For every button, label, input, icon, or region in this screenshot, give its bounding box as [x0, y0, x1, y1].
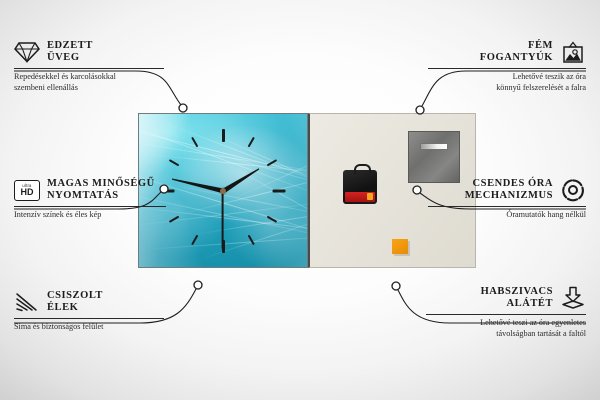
callout-header: FÉMFOGANTYÚK [428, 40, 586, 65]
clock-tick [191, 136, 198, 147]
callout-polished-edges: CSISZOLTÉLEK Sima és biztonságos felület [14, 290, 164, 333]
callout-metal-handles: FÉMFOGANTYÚK Lehetővé teszik az óra könn… [428, 40, 586, 93]
feather-streak [184, 144, 308, 199]
callout-tempered-glass: EDZETTÜVEG Repedésekkel és karcolásokkal… [14, 40, 164, 93]
clock-tick [248, 136, 255, 147]
clock-tick [169, 215, 180, 222]
clock-hand-cap [220, 188, 226, 194]
foam-spacer-pad [392, 239, 408, 254]
wire-endpoint-polished-edges [194, 281, 202, 289]
callout-description: Sima és biztonságos felület [14, 322, 164, 333]
clock-tick [248, 234, 255, 245]
mechanism-hanger-loop [354, 164, 371, 174]
wire-endpoint-foam-pad [392, 282, 400, 290]
feather-glow [138, 113, 194, 174]
callout-header: ultra HD MAGAS MINŐSÉGŰNYOMTATÁS [14, 178, 166, 203]
metal-hanger-plate [408, 131, 460, 183]
hanger-slot [420, 143, 448, 150]
feather-streak [199, 206, 308, 259]
infographic-canvas: EDZETTÜVEG Repedésekkel és karcolásokkal… [0, 0, 600, 400]
clock-second-hand [222, 191, 224, 249]
picture-hanger-icon [560, 41, 586, 64]
feather-streak [194, 206, 308, 235]
callout-title: HABSZIVACSALÁTÉT [481, 286, 553, 311]
callout-header: HABSZIVACSALÁTÉT [426, 286, 586, 311]
callout-foam-pad: HABSZIVACSALÁTÉT Lehetővé teszi az óra e… [426, 286, 586, 339]
feather-streak [179, 166, 308, 215]
callout-description: Óramutatók hang nélkül [428, 210, 586, 221]
callout-description: Repedésekkel és karcolásokkal szembeni e… [14, 72, 164, 94]
clock-tick [267, 215, 278, 222]
product-image [138, 113, 476, 268]
wire-endpoint-tempered-glass [179, 104, 187, 112]
clock-tick [267, 159, 278, 166]
callout-description: Lehetővé teszi az óra egyenletes távolsá… [426, 318, 586, 340]
feather-streak [138, 140, 308, 177]
callout-header: EDZETTÜVEG [14, 40, 164, 65]
battery-terminal [367, 193, 373, 200]
ultra-hd-badge-icon: ultra HD [14, 180, 40, 201]
callout-header: CSISZOLTÉLEK [14, 290, 164, 315]
callout-divider [14, 68, 164, 69]
clock-minute-hand [171, 176, 224, 193]
feather-streak [149, 154, 308, 177]
callout-divider [428, 68, 586, 69]
callout-divider [426, 314, 586, 315]
feather-streak [234, 141, 308, 199]
feather-streak [224, 162, 308, 236]
feather-streak [169, 184, 308, 221]
callout-title: EDZETTÜVEG [47, 40, 93, 65]
polished-edge-lines-icon [14, 291, 40, 313]
callout-title: CSISZOLTÉLEK [47, 290, 103, 315]
feather-streak [144, 234, 308, 250]
callout-divider [14, 318, 164, 319]
foam-pad-arrow-icon [560, 286, 586, 310]
callout-title: MAGAS MINŐSÉGŰNYOMTATÁS [47, 178, 155, 203]
clock-tick [169, 159, 180, 166]
callout-title: FÉMFOGANTYÚK [480, 40, 553, 65]
gear-icon [560, 178, 586, 202]
callout-divider [428, 206, 586, 207]
feather-glow [224, 179, 308, 268]
diamond-icon [14, 41, 40, 63]
clock-tick [191, 234, 198, 245]
callout-header: CSENDES ÓRAMECHANIZMUS [428, 178, 586, 203]
battery [345, 192, 375, 202]
callout-high-quality-print: ultra HD MAGAS MINŐSÉGŰNYOMTATÁS Intenzí… [14, 178, 166, 221]
callout-silent-mechanism: CSENDES ÓRAMECHANIZMUS Óramutatók hang n… [428, 178, 586, 221]
clock-tick [272, 189, 285, 192]
callout-divider [14, 206, 166, 207]
callout-description: Lehetővé teszik az óra könnyű felszerelé… [428, 72, 586, 94]
clock-tick [222, 129, 225, 142]
quartz-clock-mechanism [343, 170, 377, 204]
callout-description: Intenzív színek és éles kép [14, 210, 166, 221]
clock-hour-hand [222, 166, 260, 192]
callout-title: CSENDES ÓRAMECHANIZMUS [465, 178, 553, 203]
